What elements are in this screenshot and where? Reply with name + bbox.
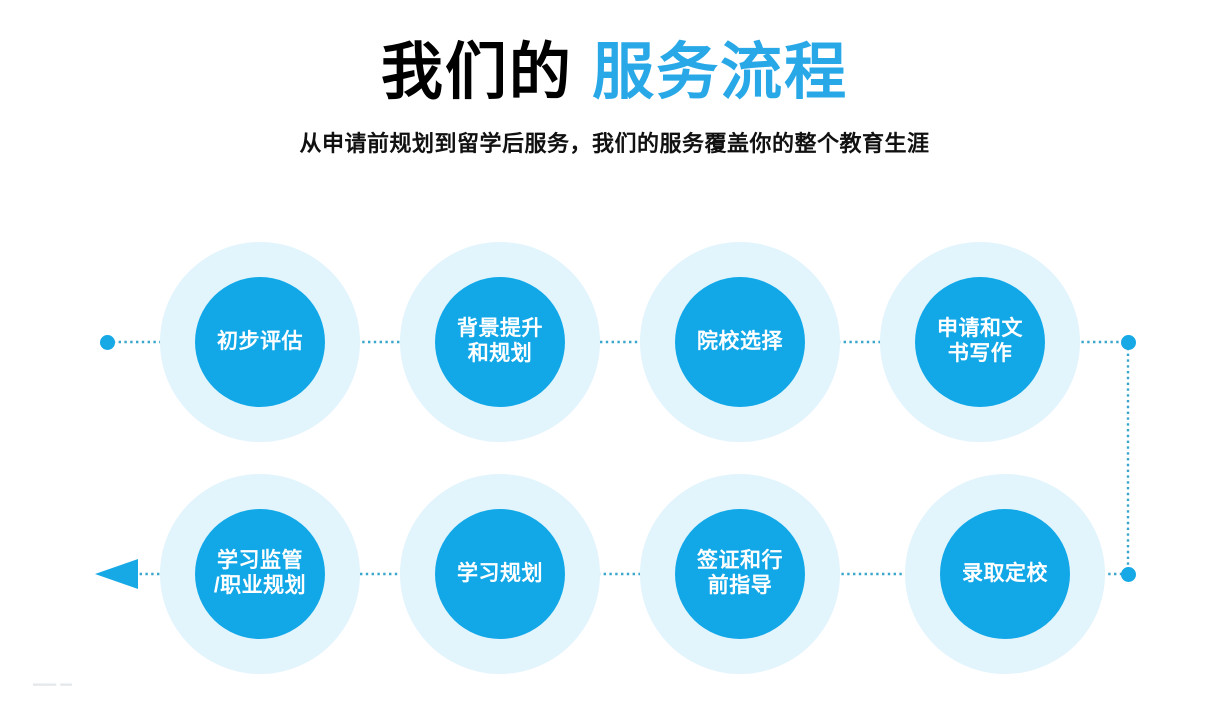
flow-node-label: 学习监管 /职业规划 <box>210 549 310 599</box>
flow-node-step-1[interactable]: 初步评估 <box>160 242 360 442</box>
flow-node-core: 申请和文 书写作 <box>915 277 1045 407</box>
flow-node-label: 申请和文 书写作 <box>933 317 1027 367</box>
bottom-right-dot <box>1121 567 1136 582</box>
flow-node-label: 签证和行 前指导 <box>693 549 787 599</box>
end-arrow-icon <box>95 559 138 589</box>
flow-node-label: 背景提升 和规划 <box>453 317 547 367</box>
watermark-artifact: ▁▁ ▁ <box>33 668 113 690</box>
flow-node-core: 初步评估 <box>195 277 325 407</box>
flow-node-step-3[interactable]: 院校选择 <box>640 242 840 442</box>
flow-node-core: 院校选择 <box>675 277 805 407</box>
flow-node-label: 录取定校 <box>958 562 1052 587</box>
flow-node-core: 学习规划 <box>435 509 565 639</box>
flow-node-step-4[interactable]: 申请和文 书写作 <box>880 242 1080 442</box>
top-right-dot <box>1121 335 1136 350</box>
service-process-flow-diagram: 初步评估 背景提升 和规划 院校选择 申请和文 书写作 学习监管 /职业规划 学… <box>0 0 1229 719</box>
flow-node-step-7[interactable]: 学习规划 <box>400 474 600 674</box>
flow-node-step-5[interactable]: 录取定校 <box>905 474 1105 674</box>
flow-node-step-2[interactable]: 背景提升 和规划 <box>400 242 600 442</box>
flow-node-core: 学习监管 /职业规划 <box>195 509 325 639</box>
flow-node-label: 院校选择 <box>693 330 787 355</box>
flow-node-core: 背景提升 和规划 <box>435 277 565 407</box>
flow-node-label: 初步评估 <box>213 330 307 355</box>
flow-node-step-6[interactable]: 签证和行 前指导 <box>640 474 840 674</box>
start-dot <box>100 335 115 350</box>
flow-node-label: 学习规划 <box>453 562 547 587</box>
flow-node-step-8[interactable]: 学习监管 /职业规划 <box>160 474 360 674</box>
flow-node-core: 录取定校 <box>940 509 1070 639</box>
flow-node-core: 签证和行 前指导 <box>675 509 805 639</box>
